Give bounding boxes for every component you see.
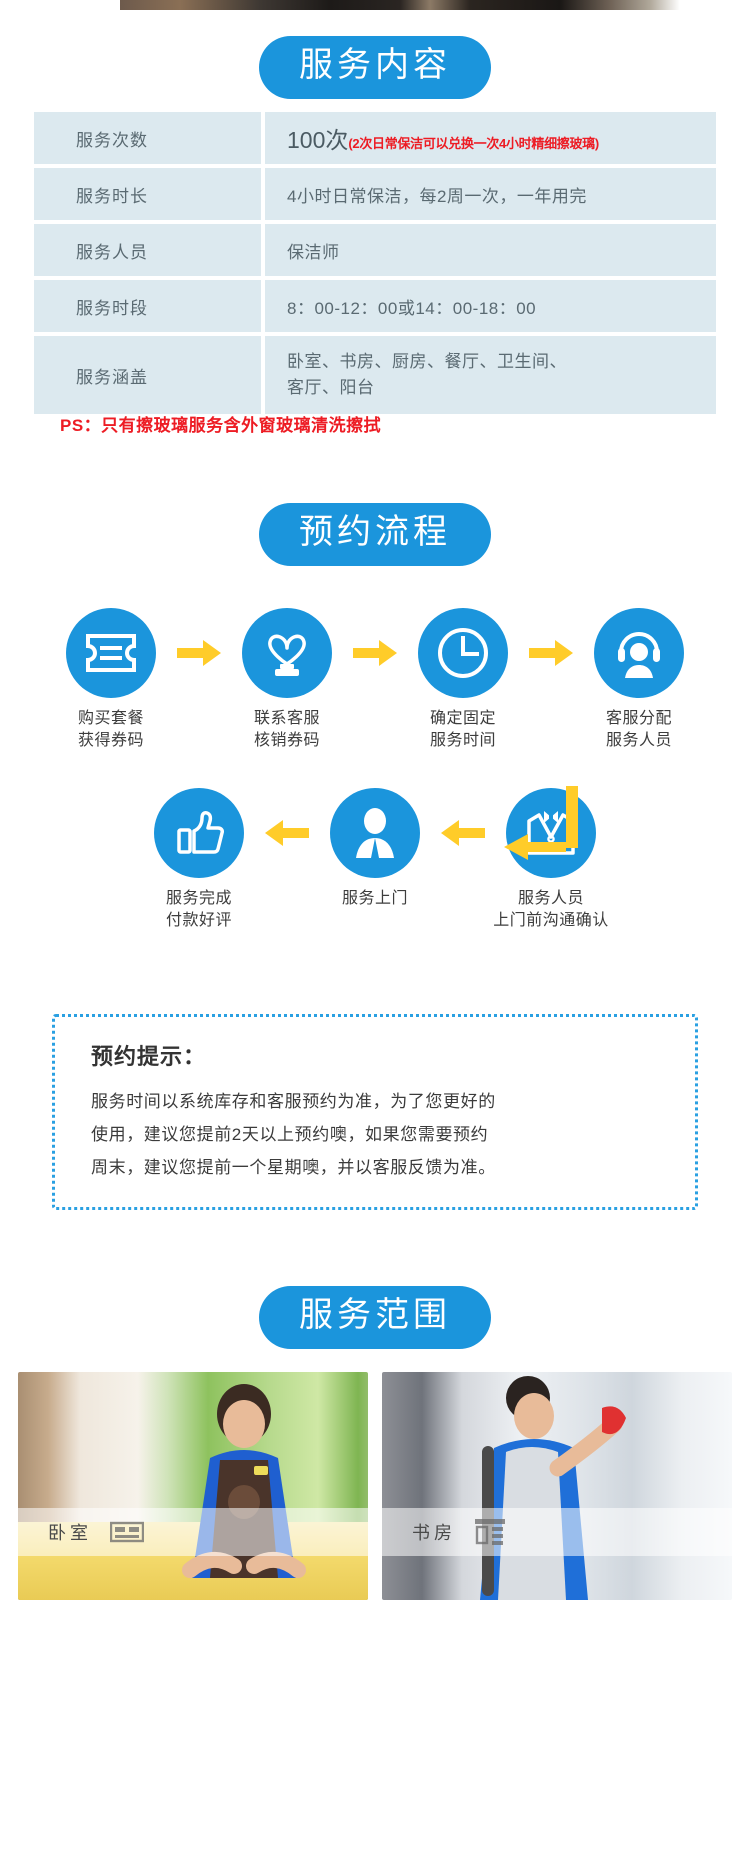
person-icon <box>330 788 420 878</box>
tip-line-3: 周末，建议您提前一个星期噢，并以客服反馈为准。 <box>91 1151 661 1184</box>
table-row: 服务时长 4小时日常保洁，每2周一次，一年用完 <box>34 168 716 220</box>
flow-step-label: 购买套餐 获得券码 <box>52 708 170 752</box>
flow-label-line1: 服务人员 <box>492 888 610 910</box>
flow-label-line2: 获得券码 <box>52 730 170 752</box>
booking-flow-diagram: 购买套餐 获得券码 联系客服 <box>0 608 750 932</box>
flow-step-label: 服务人员 上门前沟通确认 <box>492 888 610 932</box>
booking-flow-heading: 预约流程 <box>0 503 750 566</box>
flow-step-buy-package: 购买套餐 获得券码 <box>52 608 170 752</box>
scope-photo-study: 书房 <box>382 1372 732 1600</box>
flow-step-label: 确定固定 服务时间 <box>404 708 522 752</box>
tip-line-1: 服务时间以系统库存和客服预约为准，为了您更好的 <box>91 1085 661 1118</box>
top-photo-strip <box>0 0 750 10</box>
service-content-heading: 服务内容 <box>0 36 750 99</box>
booking-flow-title: 预约流程 <box>259 503 491 566</box>
flow-row-1: 购买套餐 获得券码 联系客服 <box>0 608 750 752</box>
row-value: 卧室、书房、厨房、餐厅、卫生间、 客厅、阳台 <box>265 336 716 414</box>
flow-step-pre-visit-confirm: 服务人员 上门前沟通确认 <box>492 788 610 932</box>
flow-row-2: 服务完成 付款好评 服务上门 <box>0 788 750 932</box>
row-value: 保洁师 <box>265 224 716 276</box>
tip-title: 预约提示： <box>91 1039 661 1071</box>
photo-caption-text: 卧室 <box>48 1519 92 1545</box>
table-row: 服务时段 8：00-12：00或14：00-18：00 <box>34 280 716 332</box>
row-label: 服务次数 <box>34 112 261 164</box>
row-label: 服务人员 <box>34 224 261 276</box>
flow-label-line1: 购买套餐 <box>52 708 170 730</box>
service-scope-title: 服务范围 <box>259 1286 491 1349</box>
product-detail-page: 服务内容 服务次数 100次(2次日常保洁可以兑换一次4小时精细擦玻璃) 服务时… <box>0 0 750 1855</box>
tip-body: 服务时间以系统库存和客服预约为准，为了您更好的 使用，建议您提前2天以上预约噢，… <box>91 1085 661 1184</box>
booking-tip-box: 预约提示： 服务时间以系统库存和客服预约为准，为了您更好的 使用，建议您提前2天… <box>52 1014 698 1210</box>
flow-step-confirm-time: 确定固定 服务时间 <box>404 608 522 752</box>
row-label: 服务时长 <box>34 168 261 220</box>
flow-label-line1: 确定固定 <box>404 708 522 730</box>
desk-icon <box>474 1518 506 1546</box>
service-count-note: (2次日常保洁可以兑换一次4小时精细擦玻璃) <box>348 136 599 151</box>
photo-caption: 书房 <box>382 1508 732 1556</box>
window-cleaner-illustration <box>442 1372 642 1600</box>
arrow-right-icon <box>522 608 580 698</box>
flow-label-line1: 服务上门 <box>316 888 434 910</box>
cleaner-person-illustration <box>170 1380 320 1600</box>
table-row: 服务人员 保洁师 <box>34 224 716 276</box>
flow-step-onsite: 服务上门 <box>316 788 434 910</box>
headset-agent-icon <box>594 608 684 698</box>
ps-note: PS：只有擦玻璃服务含外窗玻璃清洗擦拭 <box>60 411 381 436</box>
coverage-line-2: 客厅、阳台 <box>287 375 716 401</box>
thumbs-up-icon <box>154 788 244 878</box>
flow-step-contact-service: 联系客服 核销券码 <box>228 608 346 752</box>
coverage-line-1: 卧室、书房、厨房、餐厅、卫生间、 <box>287 349 716 375</box>
flow-step-label: 服务上门 <box>316 888 434 910</box>
clock-icon <box>418 608 508 698</box>
flow-step-label: 联系客服 核销券码 <box>228 708 346 752</box>
arrow-right-icon <box>170 608 228 698</box>
flow-label-line1: 联系客服 <box>228 708 346 730</box>
flow-label-line2: 服务时间 <box>404 730 522 752</box>
arrow-left-icon <box>434 788 492 878</box>
table-row: 服务涵盖 卧室、书房、厨房、餐厅、卫生间、 客厅、阳台 <box>34 336 716 414</box>
heart-stamp-icon <box>242 608 332 698</box>
flow-label-line1: 服务完成 <box>140 888 258 910</box>
ticket-icon <box>66 608 156 698</box>
flow-label-line1: 客服分配 <box>580 708 698 730</box>
flow-label-line2: 核销券码 <box>228 730 346 752</box>
row-value: 100次(2次日常保洁可以兑换一次4小时精细擦玻璃) <box>265 112 716 164</box>
photo-caption-text: 书房 <box>412 1519 456 1545</box>
service-content-table: 服务次数 100次(2次日常保洁可以兑换一次4小时精细擦玻璃) 服务时长 4小时… <box>30 108 720 418</box>
table-row: 服务次数 100次(2次日常保洁可以兑换一次4小时精细擦玻璃) <box>34 112 716 164</box>
flow-step-label: 服务完成 付款好评 <box>140 888 258 932</box>
row-label: 服务涵盖 <box>34 336 261 414</box>
flow-step-assign-staff: 客服分配 服务人员 <box>580 608 698 752</box>
service-count-value: 100次 <box>287 127 348 153</box>
photo-caption: 卧室 <box>18 1508 368 1556</box>
row-value: 4小时日常保洁，每2周一次，一年用完 <box>265 168 716 220</box>
service-scope-heading: 服务范围 <box>0 1286 750 1349</box>
bowtie-uniform-icon <box>506 788 596 878</box>
flow-label-line2: 服务人员 <box>580 730 698 752</box>
arrow-left-icon <box>258 788 316 878</box>
scope-photo-bedroom: 卧室 <box>18 1372 368 1600</box>
flow-label-line2: 上门前沟通确认 <box>492 910 610 932</box>
row-value: 8：00-12：00或14：00-18：00 <box>265 280 716 332</box>
service-scope-photos: 卧室 书房 <box>18 1372 732 1600</box>
bed-icon <box>110 1519 144 1545</box>
arrow-right-icon <box>346 608 404 698</box>
flow-label-line2: 付款好评 <box>140 910 258 932</box>
tip-line-2: 使用，建议您提前2天以上预约噢，如果您需要预约 <box>91 1118 661 1151</box>
flow-step-completed-review: 服务完成 付款好评 <box>140 788 258 932</box>
flow-step-label: 客服分配 服务人员 <box>580 708 698 752</box>
service-content-title: 服务内容 <box>259 36 491 99</box>
row-label: 服务时段 <box>34 280 261 332</box>
